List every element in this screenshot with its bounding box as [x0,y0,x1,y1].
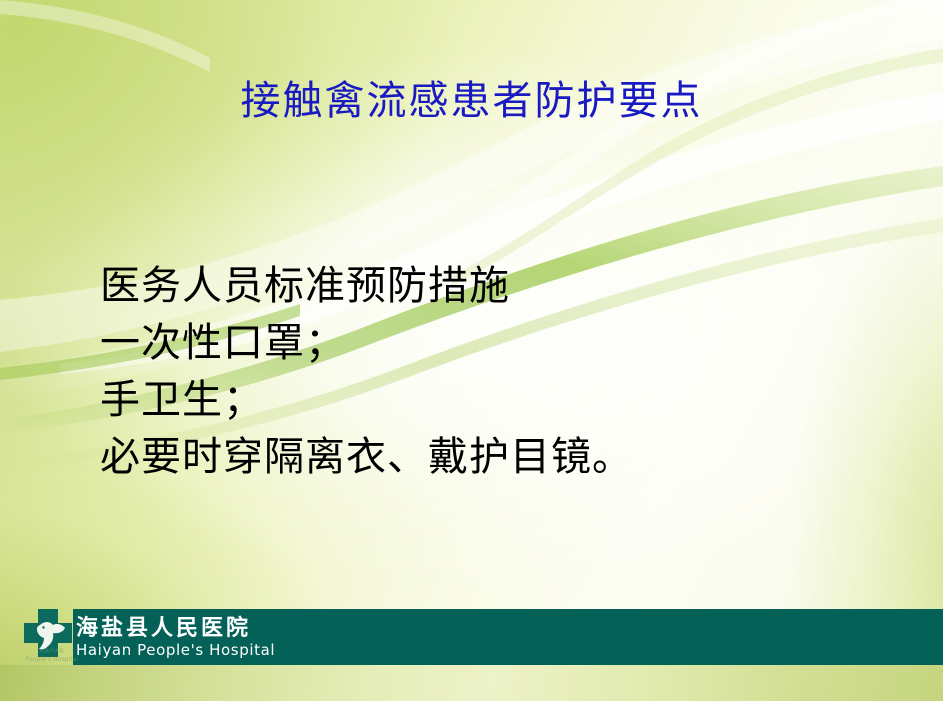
slide-body: 医务人员标准预防措施 一次性口罩； 手卫生； 必要时穿隔离衣、戴护目镜。 [100,258,860,486]
presentation-slide: 接触禽流感患者防护要点 医务人员标准预防措施 一次性口罩； 手卫生； 必要时穿隔… [0,0,943,701]
logo-submark-english: People's Hospital [24,656,80,664]
hospital-logo-icon [20,605,78,675]
hospital-name-en: Haiyan People's Hospital [76,641,275,659]
body-line-2: 一次性口罩； [100,315,860,372]
slide-bottom-strip [0,665,943,701]
hospital-name-cn: 海盐县人民医院 [76,616,275,641]
logo-submark-pinyin: HAIYAN [24,648,80,656]
slide-footer: 海盐县人民医院 Haiyan People's Hospital [0,609,943,665]
logo-submark: HAIYAN People's Hospital [24,648,80,664]
slide-title: 接触禽流感患者防护要点 [0,78,943,124]
hospital-name-block: 海盐县人民医院 Haiyan People's Hospital [76,611,275,663]
body-line-1: 医务人员标准预防措施 [100,258,860,315]
body-line-4: 必要时穿隔离衣、戴护目镜。 [100,429,860,486]
body-line-3: 手卫生； [100,372,860,429]
